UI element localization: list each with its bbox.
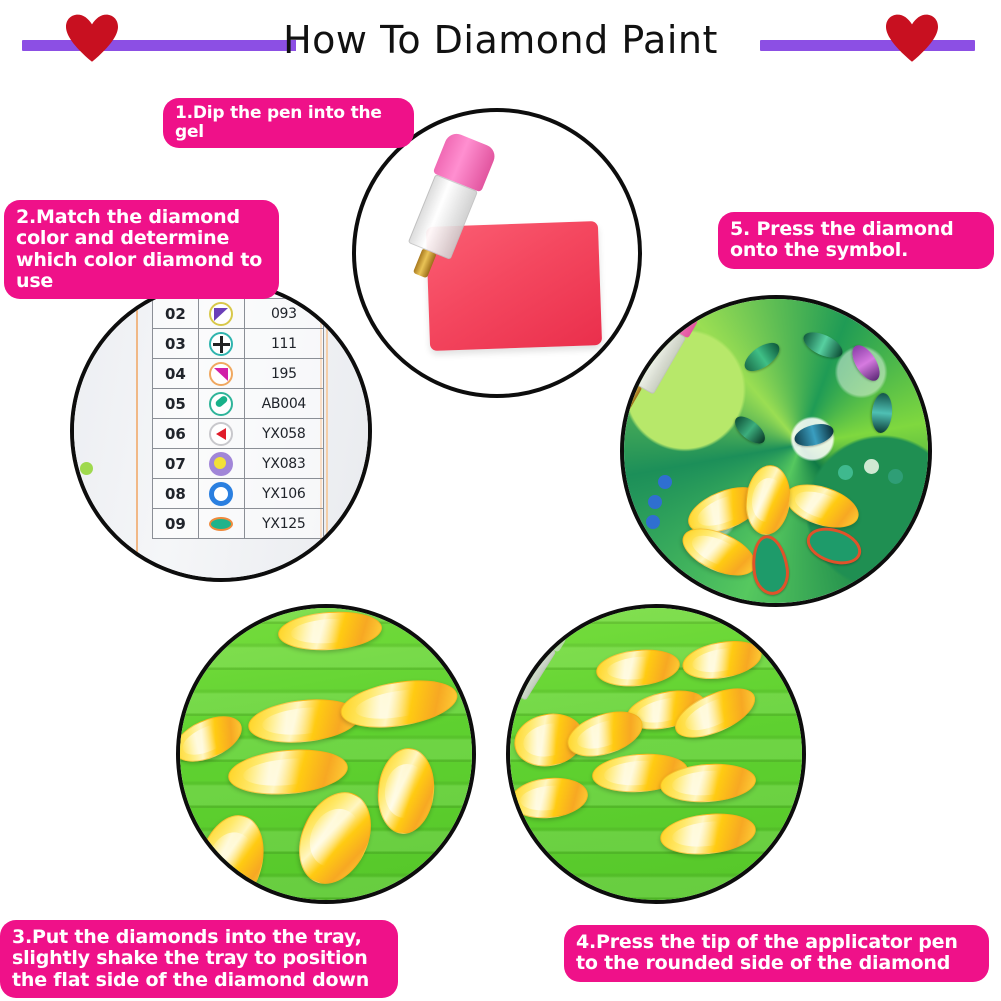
triangle-pink-icon — [198, 359, 244, 389]
legend-code: YX058 — [244, 419, 323, 449]
table-row: 03 111 — [153, 329, 324, 359]
legend-code: 111 — [244, 329, 323, 359]
filled-circle-icon — [198, 449, 244, 479]
legend-code: YX083 — [244, 449, 323, 479]
legend-code: AB004 — [244, 389, 323, 419]
step-2-photo: 028 02 093 03 — [70, 280, 372, 582]
table-row: 09 YX125 — [153, 509, 324, 539]
legend-code: 093 — [244, 299, 323, 329]
sheet-guide-line — [326, 284, 328, 578]
table-row: 08 YX106 — [153, 479, 324, 509]
canvas-dot — [888, 469, 903, 484]
sheet-guide-line — [136, 284, 138, 578]
infographic-page: How To Diamond Paint 1.Dip the pen into … — [0, 0, 1001, 1001]
legend-number: 07 — [153, 449, 199, 479]
legend-number: 04 — [153, 359, 199, 389]
step-5-photo — [620, 295, 932, 607]
table-row: 06 YX058 — [153, 419, 324, 449]
canvas-dot — [646, 515, 660, 529]
step-4-photo — [506, 604, 806, 904]
legend-number: 09 — [153, 509, 199, 539]
header: How To Diamond Paint — [0, 0, 1001, 92]
step-1-photo — [352, 108, 642, 398]
table-row: 05 AB004 — [153, 389, 324, 419]
table-row: 02 093 — [153, 299, 324, 329]
table-row: 04 195 — [153, 359, 324, 389]
leaf-icon — [198, 509, 244, 539]
step-3-photo — [176, 604, 476, 904]
canvas-dot — [838, 465, 853, 480]
ring-icon — [198, 479, 244, 509]
printed-dot — [76, 510, 89, 523]
printed-dot — [80, 462, 93, 475]
table-row: 07 YX083 — [153, 449, 324, 479]
canvas-dot — [658, 475, 672, 489]
step-1-label: 1.Dip the pen into the gel — [163, 98, 414, 148]
step-2-label: 2.Match the diamond color and determine … — [4, 200, 279, 299]
pen-tip — [413, 249, 437, 279]
legend-number: 02 — [153, 299, 199, 329]
legend-code: 195 — [244, 359, 323, 389]
legend-code: YX106 — [244, 479, 323, 509]
triangle-icon — [198, 299, 244, 329]
page-title: How To Diamond Paint — [0, 18, 1001, 62]
step-5-label: 5. Press the diamond onto the symbol. — [718, 212, 994, 269]
canvas-dot — [648, 495, 662, 509]
legend-code: YX125 — [244, 509, 323, 539]
legend-number: 05 — [153, 389, 199, 419]
legend-number: 03 — [153, 329, 199, 359]
pill-icon — [198, 389, 244, 419]
printed-dot — [92, 532, 105, 545]
symbol-legend-table: 028 02 093 03 — [152, 280, 324, 539]
step-3-label: 3.Put the diamonds into the tray, slight… — [0, 920, 398, 998]
legend-number: 06 — [153, 419, 199, 449]
canvas-dot — [864, 459, 879, 474]
legend-number: 08 — [153, 479, 199, 509]
arrow-left-icon — [198, 419, 244, 449]
plus-icon — [198, 329, 244, 359]
step-4-label: 4.Press the tip of the applicator pen to… — [564, 925, 989, 982]
pen-tip — [620, 381, 642, 430]
